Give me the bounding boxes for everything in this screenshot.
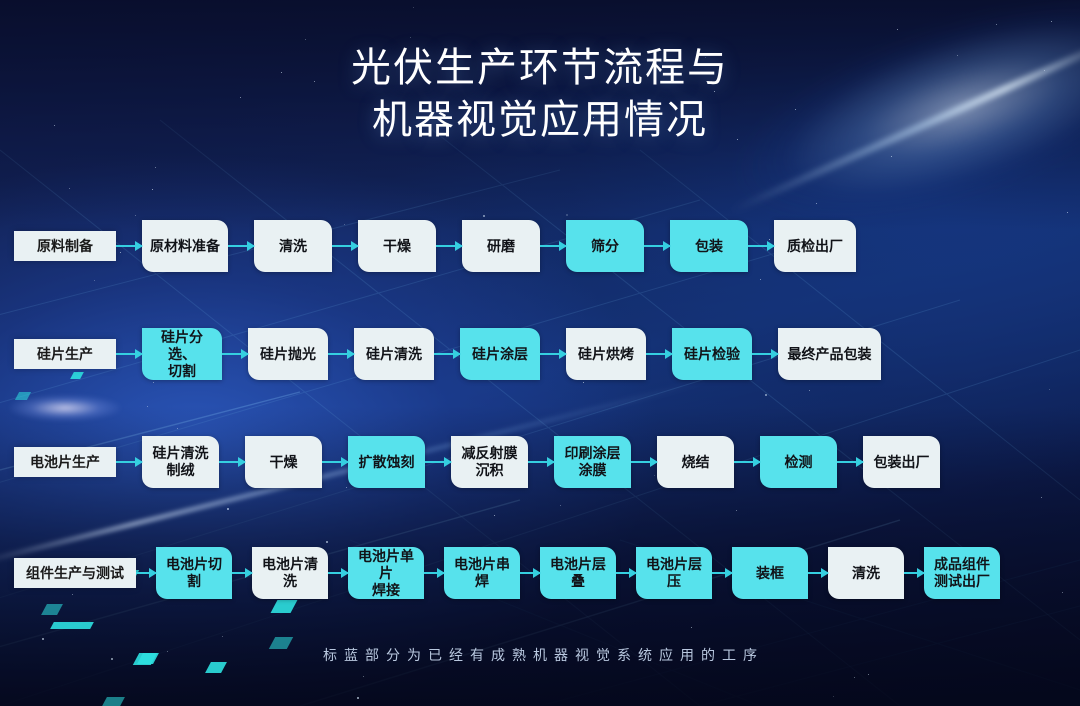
process-node[interactable]: 研磨	[462, 220, 540, 272]
process-node-label: 包装出厂	[874, 454, 930, 471]
flow-arrow-icon	[116, 353, 142, 355]
flow-arrow-icon	[752, 353, 778, 355]
process-node-label: 包装	[695, 238, 723, 255]
process-node-label: 电池片清洗	[258, 556, 322, 590]
process-node[interactable]: 硅片抛光	[248, 328, 328, 380]
flow-arrow-icon	[434, 353, 460, 355]
process-node[interactable]: 清洗	[254, 220, 332, 272]
flow-arrow-icon	[540, 353, 566, 355]
process-node-label: 装框	[756, 565, 784, 582]
flow-row: 电池片生产硅片清洗制绒干燥扩散蚀刻减反射膜沉积印刷涂层涂膜烧结检测包装出厂	[0, 436, 1080, 488]
process-node-label: 最终产品包装	[788, 346, 872, 363]
process-node-label: 检测	[785, 454, 813, 471]
process-node[interactable]: 减反射膜沉积	[451, 436, 528, 488]
process-node[interactable]: 硅片清洗制绒	[142, 436, 219, 488]
process-node-highlighted[interactable]: 包装	[670, 220, 748, 272]
flow-arrow-icon	[328, 572, 348, 574]
flowchart: 原料制备原材料准备清洗干燥研磨筛分包装质检出厂硅片生产硅片分选、切割硅片抛光硅片…	[0, 0, 1080, 706]
process-node-label: 电池片切割	[162, 556, 226, 590]
flow-arrow-icon	[646, 353, 672, 355]
process-node-label: 电池片层压	[642, 556, 706, 590]
flow-arrow-icon	[540, 245, 566, 247]
process-node-highlighted[interactable]: 硅片检验	[672, 328, 752, 380]
flow-arrow-icon	[904, 572, 924, 574]
process-node-label: 硅片烘烤	[578, 346, 634, 363]
process-node-label: 干燥	[270, 454, 298, 471]
process-node-highlighted[interactable]: 筛分	[566, 220, 644, 272]
process-node-label: 研磨	[487, 238, 515, 255]
process-node-label: 清洗	[279, 238, 307, 255]
process-node[interactable]: 包装出厂	[863, 436, 940, 488]
process-node-highlighted[interactable]: 电池片层压	[636, 547, 712, 599]
stage-label[interactable]: 硅片生产	[14, 339, 116, 369]
flow-row: 组件生产与测试电池片切割电池片清洗电池片单片焊接电池片串焊电池片层叠电池片层压装…	[0, 547, 1080, 599]
flow-arrow-icon	[520, 572, 540, 574]
flow-arrow-icon	[332, 245, 358, 247]
process-node-label: 硅片分选、切割	[148, 329, 216, 380]
process-node-label: 干燥	[383, 238, 411, 255]
process-node-label: 电池片层叠	[546, 556, 610, 590]
process-node-highlighted[interactable]: 电池片层叠	[540, 547, 616, 599]
flow-arrow-icon	[424, 572, 444, 574]
process-node[interactable]: 干燥	[245, 436, 322, 488]
process-node-label: 成品组件测试出厂	[934, 556, 990, 590]
flow-arrow-icon	[322, 461, 348, 463]
flow-arrow-icon	[748, 245, 774, 247]
process-node-highlighted[interactable]: 扩散蚀刻	[348, 436, 425, 488]
flow-arrow-icon	[528, 461, 554, 463]
process-node-highlighted[interactable]: 硅片涂层	[460, 328, 540, 380]
process-node-highlighted[interactable]: 检测	[760, 436, 837, 488]
process-node-highlighted[interactable]: 装框	[732, 547, 808, 599]
process-node-label: 扩散蚀刻	[359, 454, 415, 471]
flow-arrow-icon	[734, 461, 760, 463]
flow-row: 硅片生产硅片分选、切割硅片抛光硅片清洗硅片涂层硅片烘烤硅片检验最终产品包装	[0, 328, 1080, 380]
flow-arrow-icon	[228, 245, 254, 247]
flow-row: 原料制备原材料准备清洗干燥研磨筛分包装质检出厂	[0, 220, 1080, 272]
process-node[interactable]: 烧结	[657, 436, 734, 488]
process-node[interactable]: 硅片烘烤	[566, 328, 646, 380]
process-node[interactable]: 干燥	[358, 220, 436, 272]
process-node-label: 原材料准备	[150, 238, 220, 255]
process-node[interactable]: 清洗	[828, 547, 904, 599]
process-node-highlighted[interactable]: 电池片单片焊接	[348, 547, 424, 599]
process-node[interactable]: 电池片清洗	[252, 547, 328, 599]
process-node-label: 硅片检验	[684, 346, 740, 363]
flow-arrow-icon	[136, 572, 156, 574]
flow-arrow-icon	[116, 245, 142, 247]
footer-note: 标蓝部分为已经有成熟机器视觉系统应用的工序	[0, 645, 1080, 665]
process-node-label: 筛分	[591, 238, 619, 255]
flow-arrow-icon	[436, 245, 462, 247]
process-node-label: 质检出厂	[787, 238, 843, 255]
process-node-label: 印刷涂层涂膜	[565, 445, 621, 479]
process-node-highlighted[interactable]: 电池片串焊	[444, 547, 520, 599]
stage-label[interactable]: 电池片生产	[14, 447, 116, 477]
process-node-highlighted[interactable]: 成品组件测试出厂	[924, 547, 1000, 599]
slide-canvas: 光伏生产环节流程与 机器视觉应用情况 原料制备原材料准备清洗干燥研磨筛分包装质检…	[0, 0, 1080, 706]
stage-label[interactable]: 原料制备	[14, 231, 116, 261]
flow-arrow-icon	[837, 461, 863, 463]
process-node-highlighted[interactable]: 印刷涂层涂膜	[554, 436, 631, 488]
process-node-label: 清洗	[852, 565, 880, 582]
flow-arrow-icon	[712, 572, 732, 574]
flow-arrow-icon	[425, 461, 451, 463]
process-node-label: 电池片串焊	[450, 556, 514, 590]
flow-arrow-icon	[222, 353, 248, 355]
process-node-label: 烧结	[682, 454, 710, 471]
flow-arrow-icon	[616, 572, 636, 574]
process-node-label: 电池片单片焊接	[354, 548, 418, 599]
process-node-label: 减反射膜沉积	[462, 445, 518, 479]
process-node-label: 硅片涂层	[472, 346, 528, 363]
process-node[interactable]: 原材料准备	[142, 220, 228, 272]
flow-arrow-icon	[232, 572, 252, 574]
process-node-highlighted[interactable]: 硅片分选、切割	[142, 328, 222, 380]
process-node-label: 硅片清洗制绒	[153, 445, 209, 479]
process-node[interactable]: 硅片清洗	[354, 328, 434, 380]
process-node-highlighted[interactable]: 电池片切割	[156, 547, 232, 599]
flow-arrow-icon	[644, 245, 670, 247]
process-node[interactable]: 最终产品包装	[778, 328, 881, 380]
process-node[interactable]: 质检出厂	[774, 220, 856, 272]
process-node-label: 硅片清洗	[366, 346, 422, 363]
process-node-label: 硅片抛光	[260, 346, 316, 363]
flow-arrow-icon	[631, 461, 657, 463]
stage-label[interactable]: 组件生产与测试	[14, 558, 136, 588]
flow-arrow-icon	[116, 461, 142, 463]
flow-arrow-icon	[808, 572, 828, 574]
flow-arrow-icon	[328, 353, 354, 355]
flow-arrow-icon	[219, 461, 245, 463]
